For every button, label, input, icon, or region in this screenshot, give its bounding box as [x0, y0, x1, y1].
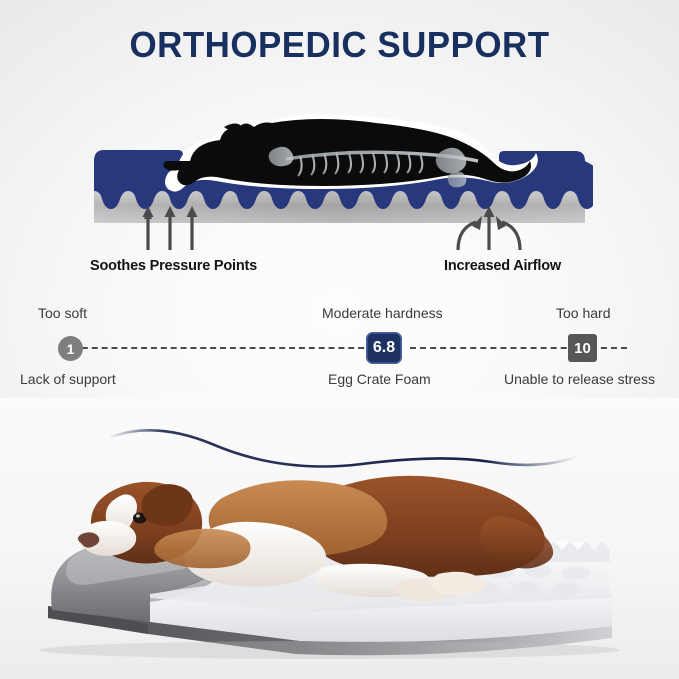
label-soothes-pressure-points: Soothes Pressure Points: [90, 258, 257, 274]
scale-caption-egg-crate-foam: Egg Crate Foam: [328, 371, 431, 387]
scale-label-moderate-hardness: Moderate hardness: [322, 305, 443, 321]
product-photo: [0, 398, 679, 679]
infographic-page: ORTHOPEDIC SUPPORT: [0, 0, 679, 679]
scale-badge-mid: 6.8: [366, 332, 402, 364]
scale-label-too-hard: Too hard: [556, 305, 610, 321]
cross-section-diagram: [86, 103, 593, 250]
label-increased-airflow: Increased Airflow: [444, 258, 561, 274]
scale-badge-high: 10: [568, 334, 597, 362]
scale-track: [58, 347, 620, 349]
scale-badge-low: 1: [58, 336, 83, 361]
page-title: ORTHOPEDIC SUPPORT: [10, 24, 669, 66]
scale-caption-lack-of-support: Lack of support: [20, 371, 116, 387]
scale-caption-unable-to-release-stress: Unable to release stress: [504, 371, 655, 387]
scale-dash-left: [72, 347, 374, 349]
bed-shadow: [40, 641, 620, 659]
pressure-arrows: [143, 206, 198, 250]
scale-label-too-soft: Too soft: [38, 305, 87, 321]
hardness-scale: Too soft Moderate hardness Too hard 1 6.…: [0, 305, 679, 395]
